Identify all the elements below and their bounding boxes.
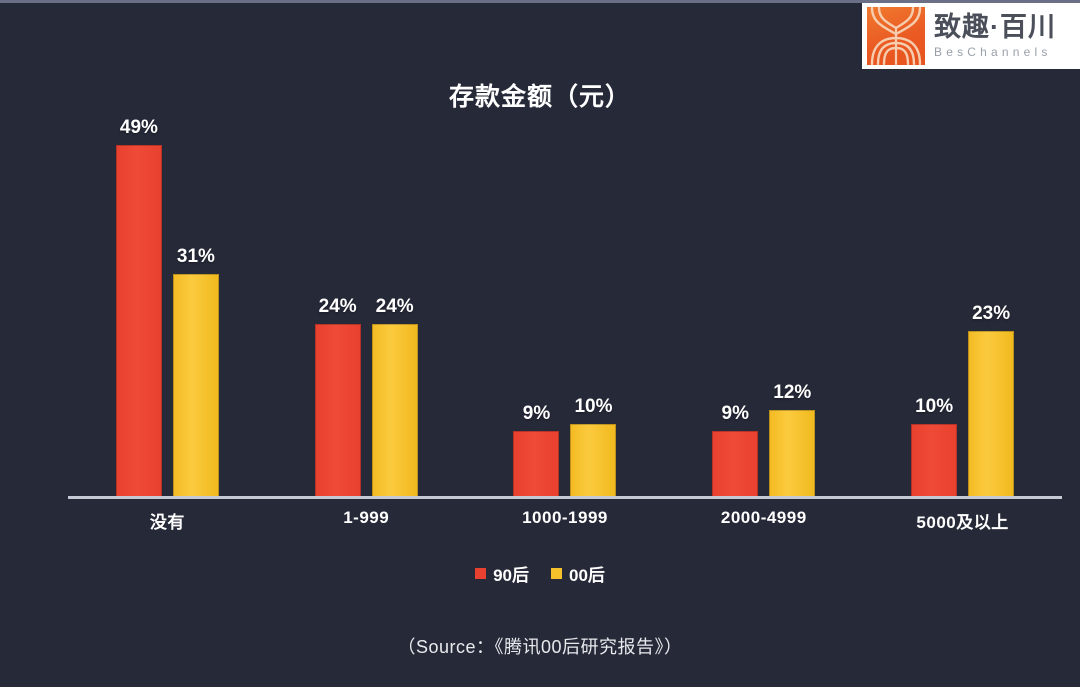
bar-groups: 49% 31% 24% 24% 9% 10%: [68, 123, 1062, 496]
legend-label: 00后: [569, 561, 605, 586]
bar-value-label: 23%: [972, 303, 1010, 325]
x-tick-label: 1000-1999: [466, 508, 665, 533]
bar-wrap: 9%: [712, 123, 758, 496]
bar-90hou[interactable]: [712, 431, 758, 496]
bar-value-label: 49%: [120, 117, 158, 139]
bar-90hou[interactable]: [513, 431, 559, 496]
source-note: （Source：《腾讯00后研究报告》）: [0, 633, 1080, 659]
x-tick-label: 没有: [68, 508, 267, 533]
bar-00hou[interactable]: [372, 324, 418, 496]
plot-area: 49% 31% 24% 24% 9% 10%: [68, 123, 1062, 499]
bar-group: 9% 10%: [466, 123, 665, 496]
bar-group: 24% 24%: [267, 123, 466, 496]
legend-item-90hou[interactable]: 90后: [475, 561, 529, 586]
legend-item-00hou[interactable]: 00后: [551, 561, 605, 586]
bar-group: 10% 23%: [863, 123, 1062, 496]
legend-swatch-icon: [551, 568, 562, 579]
bar-wrap: 23%: [968, 123, 1014, 496]
bar-wrap: 9%: [513, 123, 559, 496]
bar-value-label: 10%: [574, 396, 612, 418]
bar-group: 9% 12%: [664, 123, 863, 496]
bar-wrap: 49%: [116, 123, 162, 496]
bar-value-label: 31%: [177, 246, 215, 268]
bar-value-label: 24%: [376, 296, 414, 318]
x-tick-label: 5000及以上: [863, 508, 1062, 533]
brand-logo: 致趣·百川 BesChannels: [862, 3, 1080, 69]
x-axis-labels: 没有 1-999 1000-1999 2000-4999 5000及以上: [68, 508, 1062, 533]
legend-label: 90后: [493, 561, 529, 586]
legend-swatch-icon: [475, 568, 486, 579]
beschannels-logo-icon: [867, 7, 925, 65]
bar-value-label: 24%: [319, 296, 357, 318]
bar-00hou[interactable]: [968, 331, 1014, 496]
chart-page: { "brand": { "logo_cn": "致趣·百川", "logo_e…: [0, 0, 1080, 687]
bar-value-label: 9%: [523, 403, 550, 425]
x-tick-label: 1-999: [267, 508, 466, 533]
bar-wrap: 10%: [911, 123, 957, 496]
chart-legend: 90后 00后: [0, 561, 1080, 586]
bar-wrap: 31%: [173, 123, 219, 496]
bar-90hou[interactable]: [911, 424, 957, 496]
bar-wrap: 24%: [315, 123, 361, 496]
x-axis-line: [68, 496, 1062, 499]
bar-value-label: 9%: [722, 403, 749, 425]
chart-title: 存款金额（元）: [0, 77, 1080, 113]
brand-logo-text: 致趣·百川 BesChannels: [934, 13, 1056, 58]
bar-wrap: 12%: [769, 123, 815, 496]
x-tick-label: 2000-4999: [664, 508, 863, 533]
bar-wrap: 24%: [372, 123, 418, 496]
bar-wrap: 10%: [570, 123, 616, 496]
bar-value-label: 10%: [915, 396, 953, 418]
bar-00hou[interactable]: [769, 410, 815, 496]
brand-name-en: BesChannels: [934, 45, 1056, 59]
bar-90hou[interactable]: [116, 145, 162, 496]
bar-group: 49% 31%: [68, 123, 267, 496]
bar-00hou[interactable]: [570, 424, 616, 496]
bar-value-label: 12%: [773, 382, 811, 404]
brand-name-cn: 致趣·百川: [934, 13, 1056, 41]
bar-00hou[interactable]: [173, 274, 219, 496]
bar-90hou[interactable]: [315, 324, 361, 496]
